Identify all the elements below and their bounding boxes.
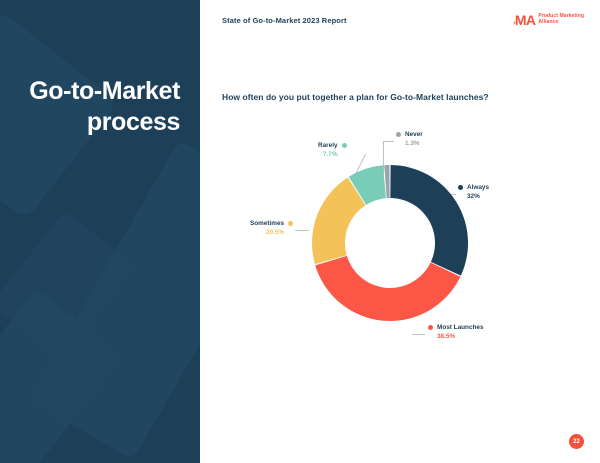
slice-name-sometimes: Sometimes (250, 220, 284, 229)
leader-line-sometimes (295, 230, 309, 231)
brand-monogram-text: MA (515, 12, 536, 28)
chart-question: How often do you put together a plan for… (222, 92, 489, 102)
slice-value-rarely: 7.7% (318, 151, 338, 160)
slice-value-always: 32% (467, 193, 489, 202)
slice-dot-never (396, 132, 401, 137)
leader-line-never-h (383, 141, 394, 142)
slice-dot-most-launches (428, 325, 433, 330)
slice-name-most-launches: Most Launches (437, 324, 484, 333)
slice-label-most-launches: Most Launches 38.5% (428, 324, 484, 341)
section-title: Go-to-Market process (0, 76, 180, 137)
title-panel: Go-to-Market process (0, 0, 200, 463)
slice-name-never: Never (405, 131, 423, 140)
brand-line-2: Alliance (538, 20, 584, 26)
donut-slice-always[interactable] (390, 165, 468, 276)
slice-dot-sometimes (288, 221, 293, 226)
slice-name-always: Always (467, 184, 489, 193)
slice-value-never: 1.3% (405, 140, 423, 149)
page-number-badge: 22 (569, 434, 584, 449)
slide: Go-to-Market process State of Go-to-Mark… (0, 0, 600, 463)
donut-graphic (310, 163, 470, 323)
slice-name-rarely: Rarely (318, 142, 338, 151)
leader-line-most (412, 334, 425, 335)
pma-logo: ,MA Product Marketing Alliance (513, 13, 584, 27)
report-label: State of Go-to-Market 2023 Report (222, 16, 347, 25)
brand-monogram: ,MA (513, 13, 535, 27)
donut-svg (310, 163, 470, 323)
brand-wordmark: Product Marketing Alliance (538, 14, 584, 26)
donut-chart: Always 32% Most Launches 38.5% Sometimes (200, 110, 600, 360)
slice-dot-always (458, 185, 463, 190)
slice-label-never: Never 1.3% (396, 131, 423, 148)
donut-slice-most-launches[interactable] (315, 256, 460, 321)
slice-label-rarely: Rarely 7.7% (318, 142, 347, 159)
slice-label-always: Always 32% (458, 184, 489, 201)
slice-value-sometimes: 20.5% (250, 229, 284, 238)
slice-label-sometimes: Sometimes 20.5% (250, 220, 293, 237)
slice-value-most-launches: 38.5% (437, 333, 484, 342)
slice-dot-rarely (342, 143, 347, 148)
